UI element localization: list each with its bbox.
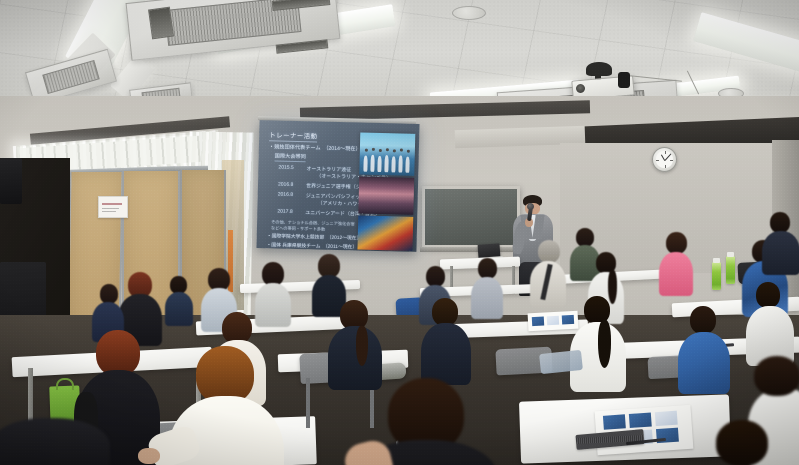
handout-thumbnail xyxy=(547,316,559,326)
attendee-head xyxy=(426,266,445,287)
handout-thumbnail xyxy=(603,414,626,430)
ceiling-speaker xyxy=(452,6,486,20)
bottle-cap xyxy=(713,258,720,263)
seminar-room-photograph: トレーナー活動 ・競技団体代表チーム （2014～現在） 国際大会帯同 2015… xyxy=(0,0,799,465)
attendee-head xyxy=(690,306,716,334)
attendee-body xyxy=(421,323,471,385)
chair-leg xyxy=(306,378,310,428)
clock-tick xyxy=(670,160,673,161)
wall-clock xyxy=(652,147,677,172)
clock-tick xyxy=(656,160,659,161)
notice-body-line xyxy=(102,211,116,212)
attendee-body xyxy=(165,292,193,326)
clock-tick xyxy=(665,151,666,154)
attendee-head xyxy=(432,298,458,326)
attendee-body xyxy=(762,231,799,275)
handout-thumbnail xyxy=(629,412,652,428)
tote-bag-handle xyxy=(56,378,74,390)
microphone-head xyxy=(527,203,534,210)
projection-screen: トレーナー活動 ・競技団体代表チーム （2014～現在） 国際大会帯同 2015… xyxy=(256,120,419,252)
screen-sheen xyxy=(256,120,419,252)
clock-tick xyxy=(665,165,666,168)
chalkboard xyxy=(422,186,520,248)
attendee-head xyxy=(716,420,768,465)
attendee-ponytail xyxy=(608,270,617,304)
attendee-head xyxy=(666,232,687,254)
attendee-head xyxy=(756,282,780,308)
attendee-hand xyxy=(138,448,160,464)
attendee-body xyxy=(678,332,730,394)
projector-lens xyxy=(576,84,585,93)
attendee-body xyxy=(659,252,693,296)
chalk-tray xyxy=(420,247,522,252)
wall-monitor xyxy=(0,158,22,204)
attendee-body xyxy=(471,277,503,319)
attendee-body xyxy=(0,418,110,465)
posted-notice xyxy=(98,196,128,218)
attendee-head xyxy=(770,212,790,233)
attendee-ponytail xyxy=(356,326,368,366)
notice-heading-line xyxy=(102,203,122,205)
attendee-head xyxy=(100,284,118,304)
attendee-body xyxy=(328,326,382,390)
handout-thumbnail xyxy=(532,316,544,326)
attendee-head xyxy=(538,240,560,263)
attendee-body xyxy=(255,283,291,327)
projector-cable-block xyxy=(618,72,630,88)
printed-handout xyxy=(595,405,694,456)
attendee-head xyxy=(478,258,497,279)
ac-vent xyxy=(148,7,174,40)
green-tea-bottle xyxy=(726,256,735,284)
bottle-cap xyxy=(727,252,734,257)
attendee-ponytail xyxy=(598,320,611,368)
green-tea-bottle xyxy=(712,262,721,290)
handout-thumbnail xyxy=(655,411,678,427)
attendee-head xyxy=(754,356,799,396)
handout-thumbnail xyxy=(562,315,574,325)
notice-body-line xyxy=(102,208,119,209)
printed-handout xyxy=(528,311,579,332)
